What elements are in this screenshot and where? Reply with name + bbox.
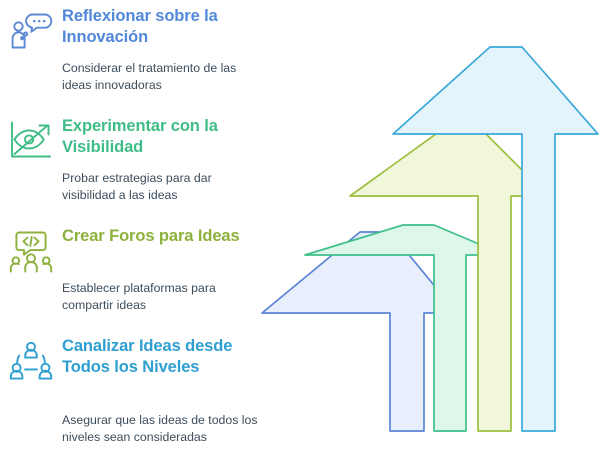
list-item-description: Asegurar que las ideas de todos los nive… (62, 412, 258, 447)
infographic-root: Reflexionar sobre la Innovación Consider… (0, 0, 600, 474)
list-item-description: Considerar el tratamiento de las ideas i… (62, 60, 258, 95)
arrow-olive (350, 126, 548, 431)
person-thought-bubble-icon (6, 8, 56, 54)
arrow-teal (305, 225, 505, 431)
eye-growth-arrow-icon (6, 118, 56, 164)
list-item-title: Experimentar con la Visibilidad (62, 116, 258, 158)
code-bubble-people-icon (6, 228, 56, 274)
list-item-title: Reflexionar sobre la Innovación (62, 6, 258, 48)
arrow-cyan (393, 47, 598, 431)
arrow-periwinkle (262, 232, 457, 431)
steps-list: Reflexionar sobre la Innovación Consider… (0, 0, 262, 474)
list-item-title: Canalizar Ideas desde Todos los Niveles (62, 336, 258, 378)
list-item-description: Establecer plataformas para compartir id… (62, 280, 258, 315)
list-item-description: Probar estrategias para dar visibilidad … (62, 170, 258, 205)
org-chart-people-icon (6, 338, 56, 384)
list-item-title: Crear Foros para Ideas (62, 226, 258, 247)
